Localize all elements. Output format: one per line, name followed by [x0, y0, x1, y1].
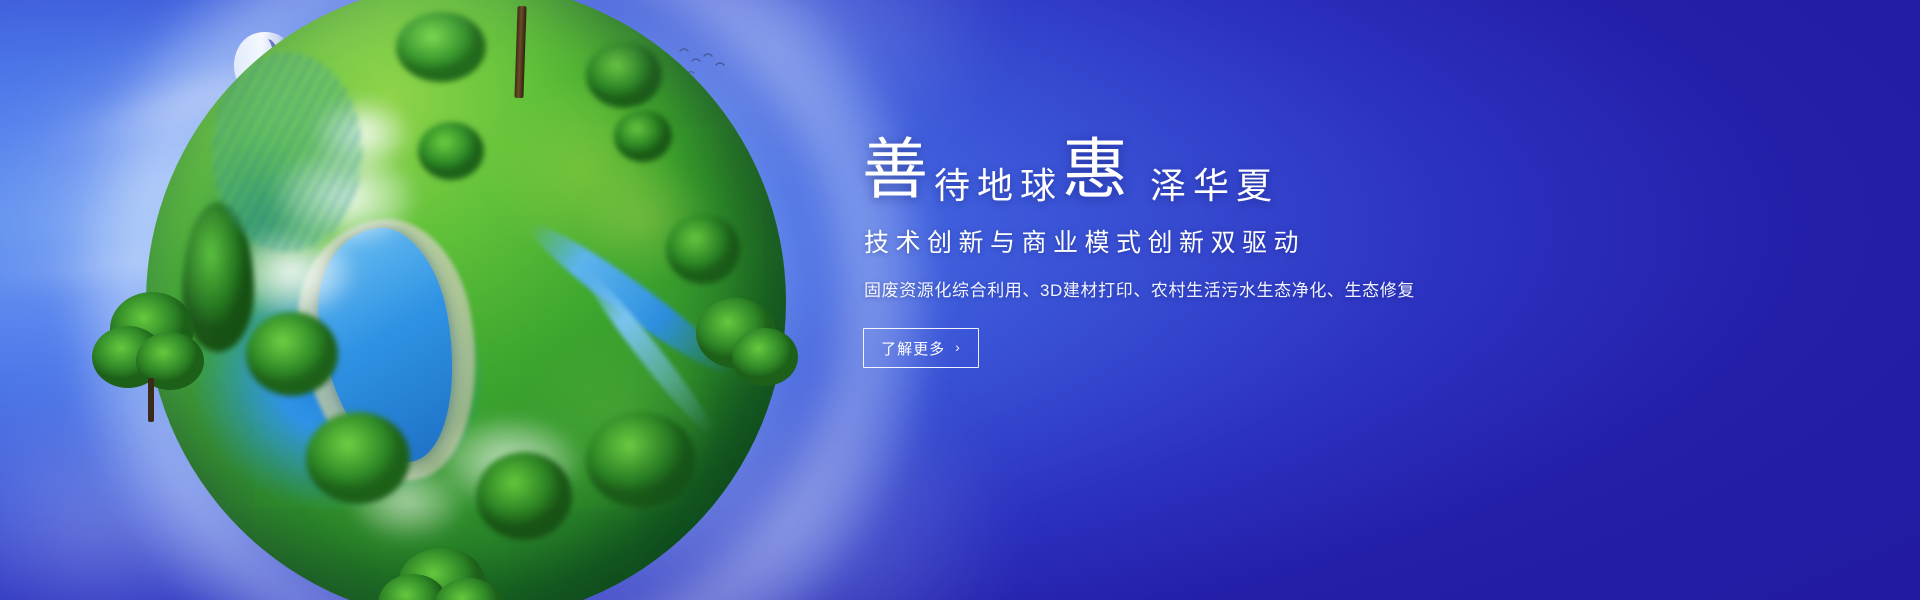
page-title: 善 待地球 惠 泽华夏 [862, 118, 1562, 210]
hero-description: 固废资源化综合利用、3D建材打印、农村生活污水生态净化、生态修复 [864, 280, 1562, 302]
chevron-right-icon: › [955, 339, 961, 355]
learn-more-button[interactable]: 了解更多 › [863, 328, 979, 368]
headline-small-1: 待地球 [934, 168, 1063, 204]
rim-tree-right [686, 282, 806, 432]
tree-icon [438, 0, 604, 86]
learn-more-label: 了解更多 [881, 338, 945, 359]
rim-tree-bottom [378, 548, 508, 600]
hero-copy: 善 待地球 惠 泽华夏 技术创新与商业模式创新双驱动 固废资源化综合利用、3D建… [862, 118, 1562, 368]
little-planet-globe [146, 0, 786, 600]
hero-banner: 善 待地球 惠 泽华夏 技术创新与商业模式创新双驱动 固废资源化综合利用、3D建… [0, 0, 1920, 600]
rim-tree-left [92, 282, 212, 432]
headline-small-2: 泽华夏 [1150, 168, 1279, 204]
headline-big-2: 惠 [1062, 138, 1130, 204]
hero-subtitle: 技术创新与商业模式创新双驱动 [864, 228, 1562, 258]
headline-big-1: 善 [862, 138, 930, 204]
